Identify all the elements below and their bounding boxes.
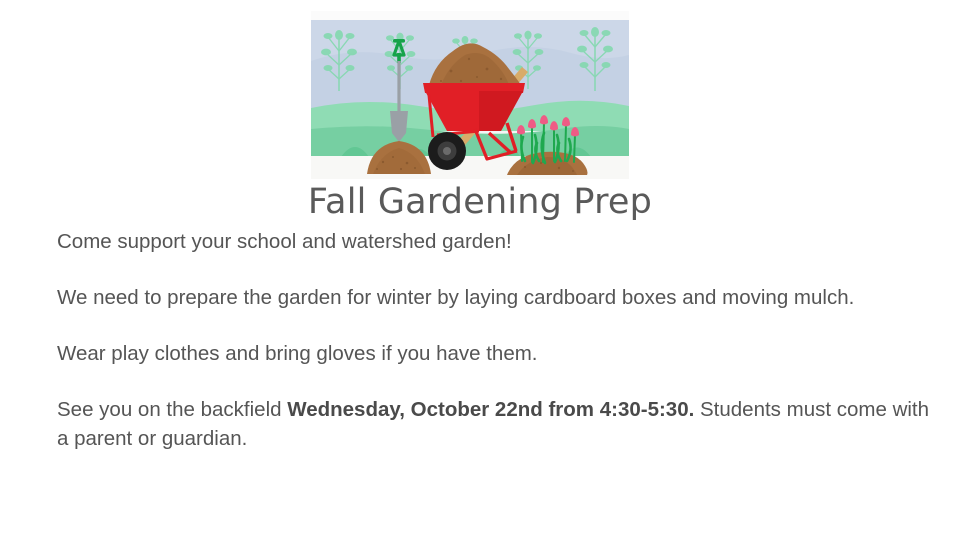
wheelbarrow-axle [443, 147, 451, 155]
gardening-illustration [311, 11, 629, 179]
paragraph-4: See you on the backfield Wednesday, Octo… [57, 395, 933, 453]
paragraph-4-lead: See you on the backfield [57, 398, 287, 421]
paragraph-1-text: Come support your school and watershed g… [57, 230, 512, 253]
slide-canvas: Fall Gardening Prep Come support your sc… [0, 0, 960, 540]
paragraph-3: Wear play clothes and bring gloves if yo… [57, 339, 933, 368]
gardening-illustration-svg [311, 11, 629, 179]
shovel-handle-top [393, 39, 405, 43]
event-datetime: Wednesday, October 22nd from 4:30-5:30. [287, 398, 694, 421]
paragraph-1: Come support your school and watershed g… [57, 227, 933, 256]
body-copy: Come support your school and watershed g… [57, 227, 933, 453]
page-title: Fall Gardening Prep [0, 180, 960, 224]
top-white-strip [311, 11, 629, 20]
paragraph-2: We need to prepare the garden for winter… [57, 283, 933, 312]
paragraph-3-text: Wear play clothes and bring gloves if yo… [57, 342, 538, 365]
paragraph-2-text: We need to prepare the garden for winter… [57, 286, 854, 309]
